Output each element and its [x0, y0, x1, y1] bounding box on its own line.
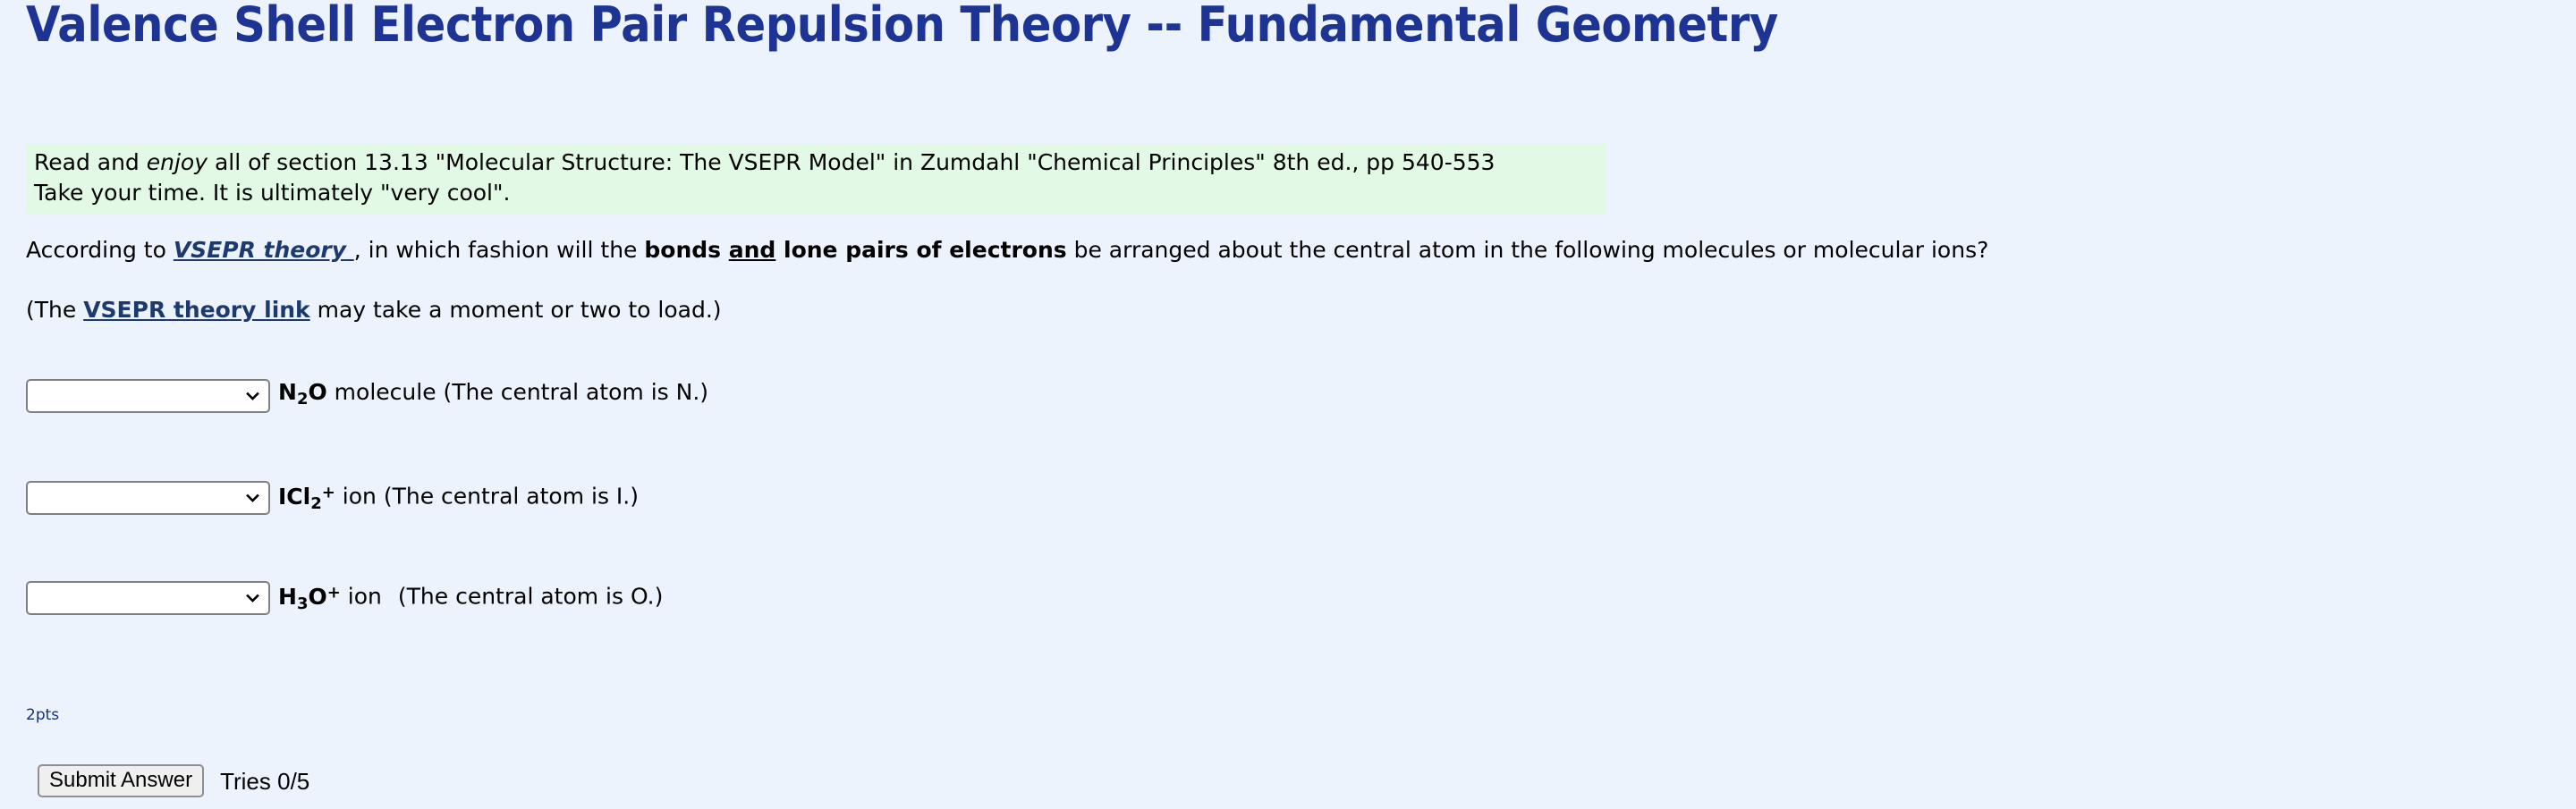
question-prompt-bold-bonds: bonds — [644, 237, 728, 263]
question-descriptor-icl2: ion (The central atom is I.) — [335, 484, 639, 510]
reading-note-line-1-suffix: all of section 13.13 "Molecular Structur… — [208, 149, 1495, 175]
points-label: 2pts — [26, 706, 59, 724]
load-note-prefix: (The — [26, 297, 83, 323]
question-row-h3o: H3O+ ion(The central atom is O.) — [26, 578, 663, 619]
question-label-n2o: N2O molecule (The central atom is N.) — [278, 378, 708, 414]
reading-note-line-1: Read and enjoy all of section 13.13 "Mol… — [34, 147, 1606, 178]
geometry-select-h3o[interactable] — [26, 581, 270, 615]
question-label-h3o: H3O+ ion(The central atom is O.) — [278, 578, 663, 619]
vsepr-theory-link-secondary[interactable]: VSEPR theory link — [83, 297, 309, 323]
submit-bar: Submit Answer Tries 0/5 — [38, 764, 309, 797]
chevron-down-icon — [246, 592, 259, 605]
load-note-suffix: may take a moment or two to load.) — [310, 297, 722, 323]
vsepr-theory-link[interactable]: VSEPR theory — [174, 237, 354, 263]
reading-assignment-note: Read and enjoy all of section 13.13 "Mol… — [26, 144, 1606, 214]
page-title: Valence Shell Electron Pair Repulsion Th… — [26, 0, 1778, 54]
submit-answer-button[interactable]: Submit Answer — [38, 764, 204, 797]
load-note: (The VSEPR theory link may take a moment… — [26, 296, 722, 324]
geometry-select-n2o[interactable] — [26, 379, 270, 413]
geometry-select-icl2[interactable] — [26, 481, 270, 515]
question-descriptor-h3o: ion — [341, 584, 382, 610]
reading-note-emphasis: enjoy — [147, 149, 208, 175]
question-prompt-prefix: According to — [26, 237, 174, 263]
chevron-down-icon — [246, 390, 259, 403]
tries-counter: Tries 0/5 — [220, 770, 309, 793]
formula-icl2: ICl2+ — [278, 484, 335, 510]
question-prompt-bold-lone-pairs: lone pairs of electrons — [775, 237, 1066, 263]
formula-h3o: H3O+ — [278, 584, 341, 610]
question-prompt-bold-and: and — [729, 237, 776, 263]
chevron-down-icon — [246, 492, 259, 505]
reading-note-line-1-prefix: Read and — [34, 149, 147, 175]
reading-note-line-2: Take your time. It is ultimately "very c… — [34, 178, 1606, 208]
question-descriptor-h3o-central-atom: (The central atom is O.) — [398, 584, 663, 610]
question-prompt: According to VSEPR theory , in which fas… — [26, 236, 1988, 265]
question-descriptor-n2o: molecule (The central atom is N.) — [327, 379, 708, 405]
question-row-n2o: N2O molecule (The central atom is N.) — [26, 378, 708, 414]
question-prompt-suffix: be arranged about the central atom in th… — [1067, 237, 1989, 263]
formula-n2o: N2O — [278, 379, 327, 405]
question-prompt-after-link: , in which fashion will the — [354, 237, 645, 263]
question-row-icl2: ICl2+ ion (The central atom is I.) — [26, 478, 639, 518]
question-label-icl2: ICl2+ ion (The central atom is I.) — [278, 478, 639, 518]
